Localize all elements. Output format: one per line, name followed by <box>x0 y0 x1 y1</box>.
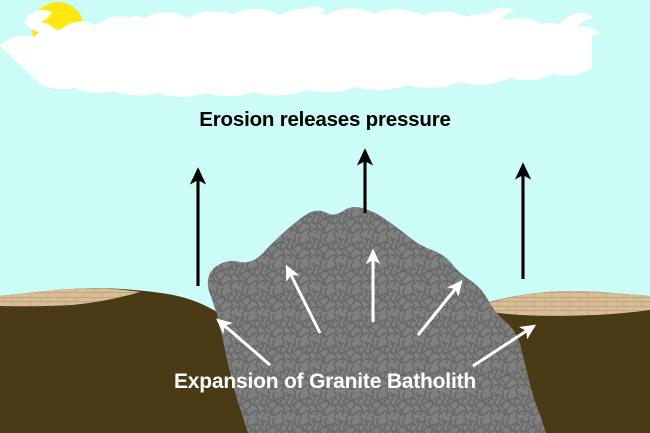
batholith-label: Expansion of Granite Batholith <box>0 370 650 394</box>
erosion-label: Erosion releases pressure <box>0 108 650 132</box>
geology-diagram: Erosion releases pressure Expansion of G… <box>0 0 650 433</box>
diagram-canvas <box>0 0 650 433</box>
